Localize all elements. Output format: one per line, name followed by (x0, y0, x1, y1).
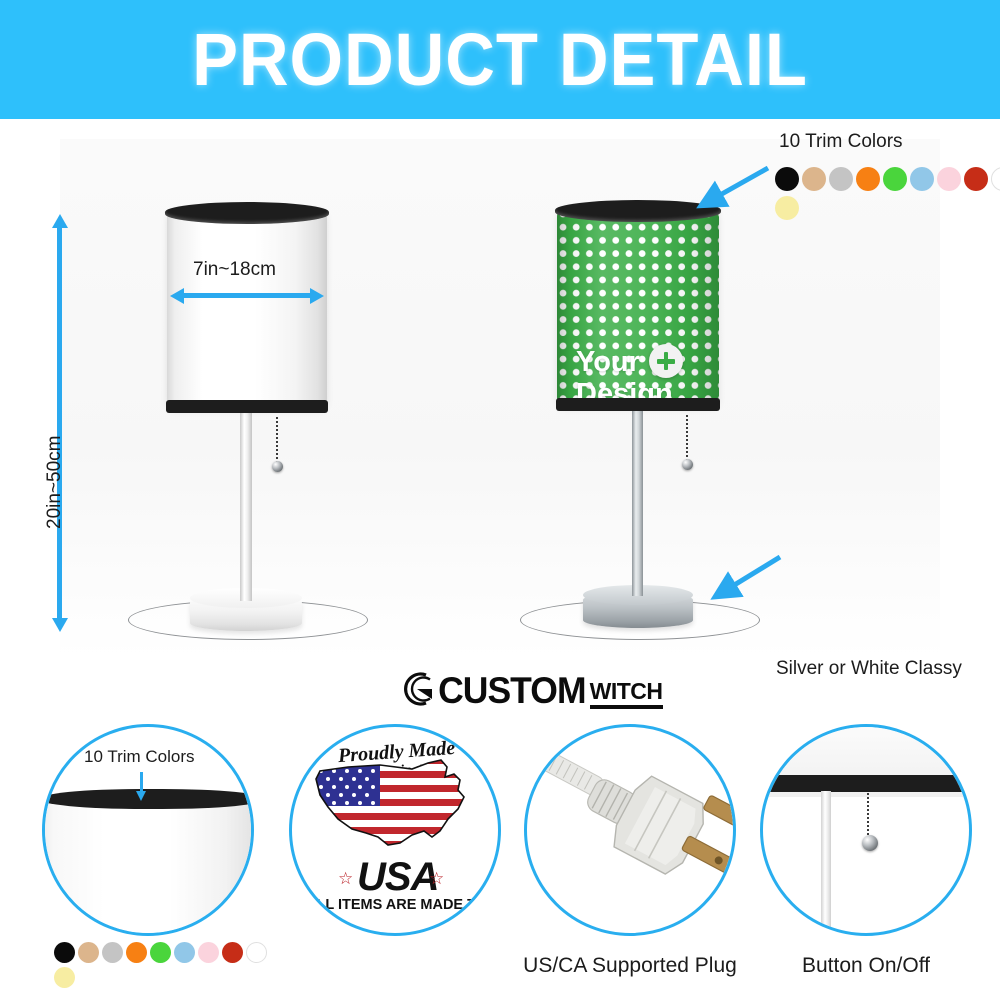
width-dimension-label: 7in~18cm (193, 259, 276, 281)
trim-colors-bottom-label: 10 Trim Colors (84, 747, 195, 767)
trim-swatch-green[interactable] (883, 167, 907, 191)
brand-name-primary: CUSTOM (438, 672, 586, 710)
height-dimension-label: 20in~50cm (44, 436, 66, 529)
brand-name-secondary: WITCH (590, 679, 663, 703)
trim-swatch-row-2 (54, 967, 267, 988)
lamp-shade-green: Your Design (557, 207, 719, 407)
star-right-icon: ☆ (429, 870, 444, 887)
header-banner: PRODUCT DETAIL (0, 0, 1000, 119)
trim-swatch-black[interactable] (775, 167, 799, 191)
lamp-pole (240, 413, 252, 601)
brand-underline (590, 705, 663, 709)
pull-chain[interactable] (867, 793, 869, 839)
trim-swatch-tan[interactable] (78, 942, 99, 963)
trim-swatch-row-2 (775, 196, 1000, 220)
trim-swatch-tan[interactable] (802, 167, 826, 191)
trim-swatch-red[interactable] (964, 167, 988, 191)
plug-caption: US/CA Supported Plug (500, 954, 760, 978)
trim-swatch-red[interactable] (222, 942, 243, 963)
power-plug-icon (527, 727, 733, 933)
brand-logo: CUSTOM WITCH (396, 668, 663, 710)
plus-circle-icon (649, 344, 683, 378)
trim-swatch-row-1 (775, 167, 1000, 191)
detail-circle-switch (760, 724, 972, 936)
base-finish-label: Silver or White Classy (776, 658, 962, 680)
lamp-shade-white (167, 209, 327, 409)
star-left-icon: ☆ (338, 870, 353, 887)
trim-swatch-light-blue[interactable] (174, 942, 195, 963)
height-dimension-arrow (57, 227, 62, 619)
stylized-c-icon (396, 668, 438, 710)
usa-flag-map-icon (308, 757, 488, 852)
plug-image (527, 727, 733, 933)
usa-badge: Proudly Made in the (292, 727, 498, 933)
page-title: PRODUCT DETAIL (35, 0, 965, 119)
detail-circle-made-in-usa: Proudly Made in the (289, 724, 501, 936)
pull-chain[interactable] (276, 417, 278, 465)
trim-swatch-orange[interactable] (126, 942, 147, 963)
trim-swatch-yellow[interactable] (775, 196, 799, 220)
pull-chain-bead[interactable] (682, 459, 693, 470)
pull-chain-bead[interactable] (862, 835, 878, 851)
trim-swatch-pink[interactable] (198, 942, 219, 963)
usa-text: USA (357, 855, 438, 900)
trim-swatch-green[interactable] (150, 942, 171, 963)
base-finish-arrow (706, 553, 786, 601)
usa-subtext: ALL ITEMS ARE MADE TO ORDER! (306, 897, 498, 913)
trim-swatch-light-blue[interactable] (910, 167, 934, 191)
pull-chain[interactable] (686, 415, 688, 463)
shade-bottom-trim (556, 398, 720, 411)
design-line-1: Your (576, 347, 640, 378)
trim-swatch-orange[interactable] (856, 167, 880, 191)
shade-top-trim (165, 202, 329, 224)
trim-detail-arrow (140, 772, 143, 792)
trim-swatch-white[interactable] (246, 942, 267, 963)
trim-swatch-group-top (775, 167, 1000, 220)
lamp-pole (632, 410, 643, 596)
trim-callout-arrow (694, 164, 774, 210)
product-detail-infographic: PRODUCT DETAIL 7in~18cm 20in~50cm (0, 0, 1000, 1000)
trim-swatch-group-bottom (54, 942, 267, 988)
trim-swatch-gray[interactable] (102, 942, 123, 963)
trim-colors-top-label: 10 Trim Colors (779, 131, 903, 153)
detail-circles-panel: 10 Trim Colors Proudly Made (0, 716, 1000, 1000)
trim-swatch-yellow[interactable] (54, 967, 75, 988)
brand-secondary-wrap: WITCH (590, 679, 663, 709)
trim-swatch-row-1 (54, 942, 267, 963)
width-dimension-arrow (183, 293, 311, 298)
switch-image (763, 727, 969, 933)
trim-swatch-black[interactable] (54, 942, 75, 963)
pull-chain-bead[interactable] (272, 461, 283, 472)
trim-swatch-white[interactable] (991, 167, 1000, 191)
switch-caption: Button On/Off (760, 954, 972, 978)
trim-swatch-gray[interactable] (829, 167, 853, 191)
detail-circle-plug (524, 724, 736, 936)
trim-swatch-pink[interactable] (937, 167, 961, 191)
shade-bottom-trim (166, 400, 328, 413)
